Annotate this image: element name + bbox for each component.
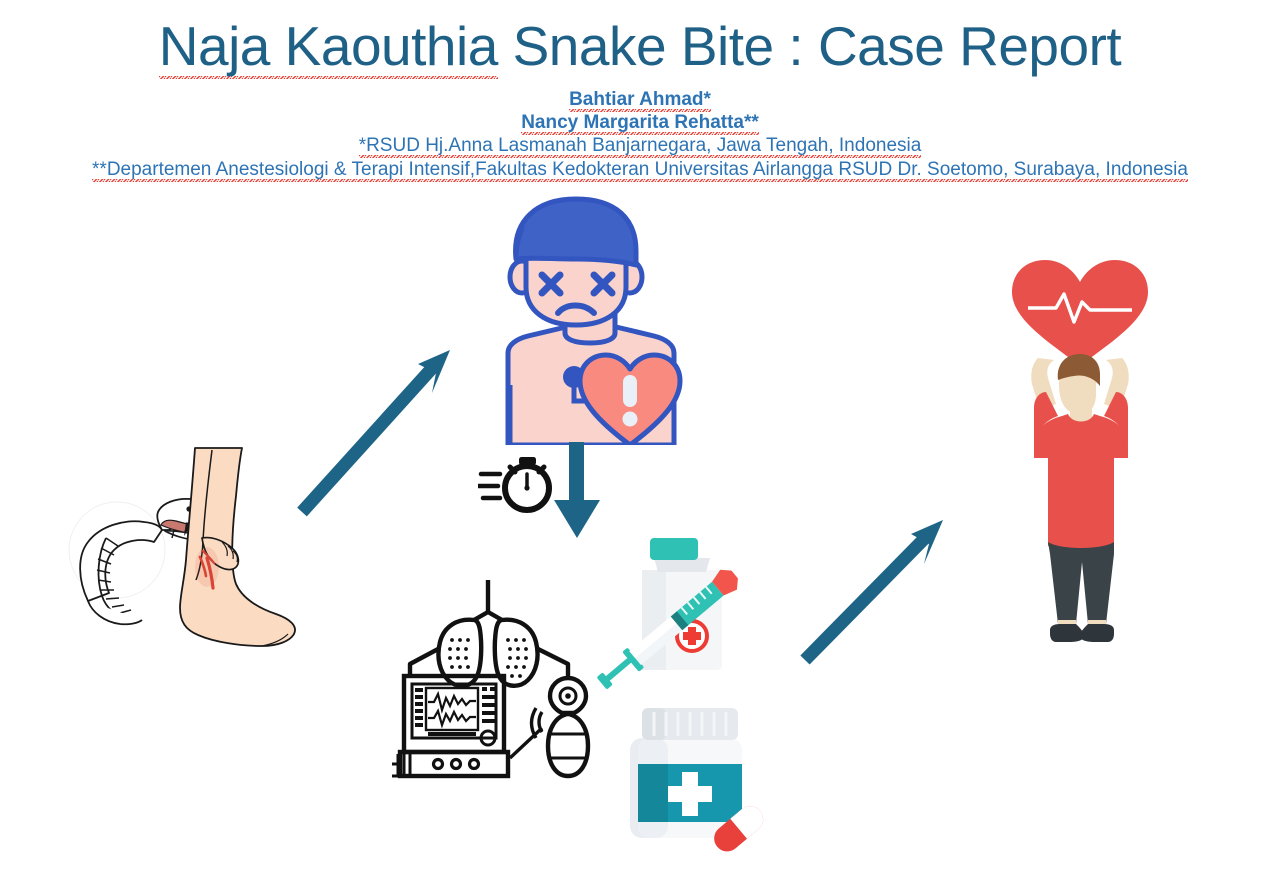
pill-bottle-svg <box>612 692 772 857</box>
person-pants <box>1048 542 1114 624</box>
vial-cap <box>650 538 698 560</box>
step-snake-bite-group <box>62 430 322 690</box>
step-pill-bottle-group <box>612 692 772 857</box>
step-icu-equipment-group <box>392 568 592 798</box>
author-line-2: Nancy Margarita Rehatta** <box>0 111 1280 134</box>
person-shirt <box>1034 414 1128 551</box>
patient-hair <box>516 199 636 265</box>
ventilator-monitor-icon <box>392 676 508 776</box>
arrow-up-right-icon-2 <box>795 512 965 672</box>
header-block: Naja Kaouthia Snake Bite : Case Report B… <box>0 0 1280 182</box>
arrow-down-icon <box>548 442 608 542</box>
step-syringe-vial-group <box>580 528 750 693</box>
stopwatch-icon <box>478 452 558 522</box>
lungs-icon <box>438 580 537 686</box>
arrow-bite-to-patient <box>290 340 470 525</box>
snake-and-leg-svg <box>62 430 322 690</box>
step-unconscious-patient-group <box>470 195 710 445</box>
syringe-vial-svg <box>580 528 750 693</box>
healthy-heart-icon <box>1012 260 1148 366</box>
unconscious-patient-svg <box>470 195 710 445</box>
shoe-right <box>1080 624 1114 642</box>
affiliation-2-text: **Departemen Anestesiologi & Terapi Inte… <box>92 159 1188 184</box>
page-title-italic-species: Naja Kaouthia <box>159 15 498 81</box>
bitten-leg-icon <box>180 448 295 646</box>
shoe-left <box>1050 624 1084 642</box>
speed-lines <box>478 474 500 498</box>
slide-canvas: Naja Kaouthia Snake Bite : Case Report B… <box>0 0 1280 878</box>
alert-exclamation-bar <box>623 375 637 407</box>
affiliation-1-text: *RSUD Hj.Anna Lasmanah Banjarnegara, Jaw… <box>359 135 922 160</box>
step-recovered-person-group <box>990 258 1170 648</box>
page-title: Naja Kaouthia Snake Bite : Case Report <box>0 14 1280 78</box>
icu-equipment-svg <box>392 568 592 798</box>
alert-exclamation-dot <box>623 412 638 427</box>
recovered-person-svg <box>990 258 1170 648</box>
author-line-1: Bahtiar Ahmad* <box>0 88 1280 111</box>
ambu-bag-icon <box>510 678 588 776</box>
affiliation-line-2: **Departemen Anestesiologi & Terapi Inte… <box>0 158 1280 182</box>
arrow-treatment-to-recovery <box>795 512 965 677</box>
stopwatch-svg <box>478 452 558 522</box>
lungs-texture-dots <box>448 638 528 678</box>
connector-lines <box>410 648 568 678</box>
affiliation-line-1: *RSUD Hj.Anna Lasmanah Banjarnegara, Jaw… <box>0 134 1280 158</box>
page-title-rest: Snake Bite : Case Report <box>498 15 1121 77</box>
cap-ridges <box>654 712 726 736</box>
arrow-up-right-icon-1 <box>290 340 470 520</box>
